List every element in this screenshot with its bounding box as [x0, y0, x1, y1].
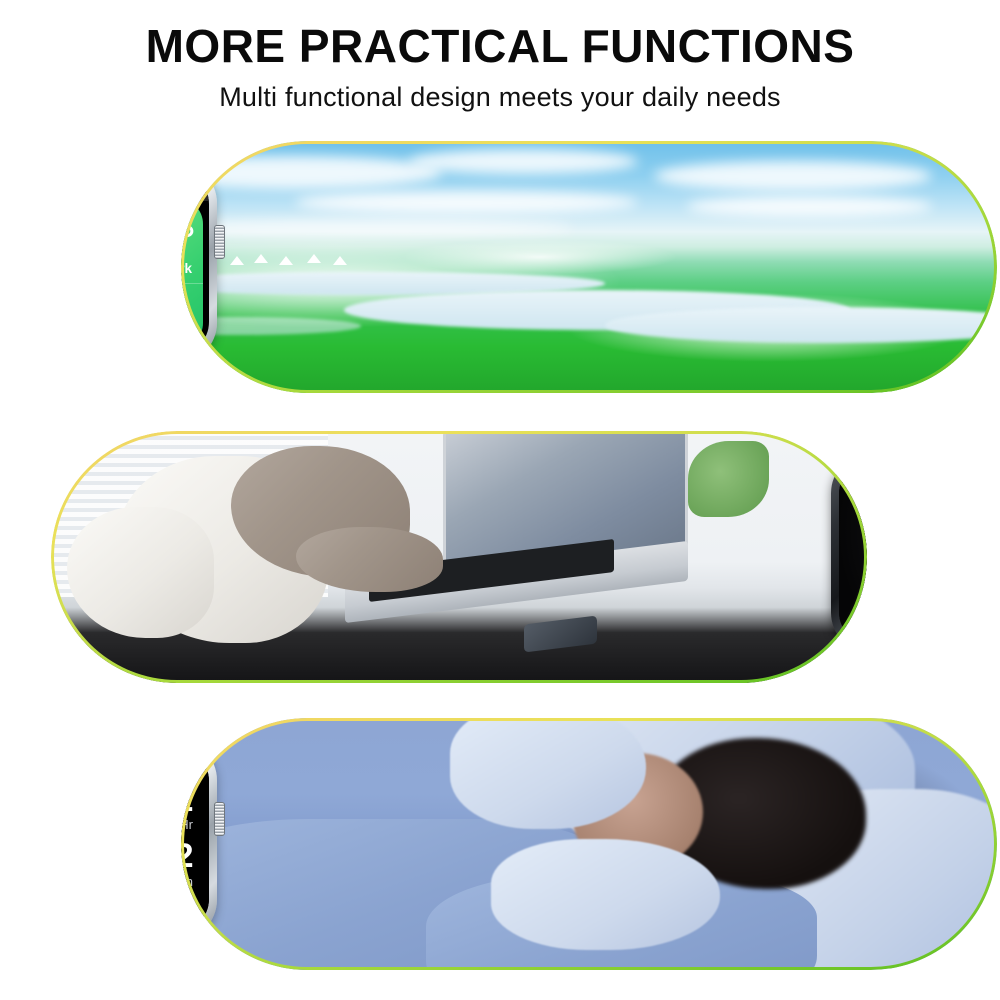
panel-sleep-scene: Sleep 10:09 z z z 02 — [181, 718, 997, 970]
watch-case: Stand Up And Move A Little For One Minut… — [831, 453, 867, 653]
weather-temperature: 20° — [181, 221, 194, 259]
sedentary-message-line2: Little For One Minute. — [858, 606, 867, 623]
watch-case: Weather 10:09 Cloudy 20° New York — [181, 163, 217, 363]
watch-screen-sleep[interactable]: Sleep 10:09 z z z 02 — [181, 748, 209, 932]
sedentary-message: Stand Up And Move A Little For One Minut… — [852, 589, 867, 623]
sunset-slot: 18:00 — [181, 293, 187, 342]
weather-status-bar: Weather 10:09 — [181, 171, 209, 201]
watch-screen-weather[interactable]: Weather 10:09 Cloudy 20° New York — [181, 171, 209, 355]
panel-weather: Weather 10:09 Cloudy 20° New York — [178, 138, 1000, 396]
sleep-hours-value: 02 — [181, 784, 193, 816]
sleep-status-bar: Sleep 10:09 — [181, 756, 209, 770]
page-subtitle: Multi functional design meets your daily… — [0, 82, 1000, 113]
weather-divider — [181, 283, 203, 284]
weather-condition: Cloudy — [181, 206, 191, 220]
sleep-hours-unit: Hr — [181, 817, 193, 832]
sedentary-reminder-face: Stand Up And Move A Little For One Minut… — [839, 461, 867, 645]
panel-sleep: Sleep 10:09 z z z 02 — [178, 715, 1000, 973]
sedentary-message-line1: Stand Up And Move A — [858, 589, 867, 606]
chevron-down-icon[interactable] — [181, 907, 209, 918]
watch-band-bottom — [860, 663, 867, 683]
weather-card: Cloudy 20° New York — [181, 198, 203, 349]
sunset-time: 18:00 — [181, 322, 187, 342]
page-title: MORE PRACTICAL FUNCTIONS — [0, 22, 1000, 70]
weather-city: New York — [181, 261, 192, 276]
sleeping-woman-image — [181, 718, 997, 970]
sleep-range-row: 23:00-05:00 — [181, 874, 209, 892]
watch-crown[interactable] — [214, 225, 225, 259]
watch-weather[interactable]: Weather 10:09 Cloudy 20° New York — [181, 141, 229, 393]
sleep-face: Sleep 10:09 z z z 02 — [181, 748, 209, 932]
watch-sedentary[interactable]: Stand Up And Move A Little For One Minut… — [819, 431, 867, 683]
office-desk-image — [51, 431, 867, 683]
watch-screen-sedentary[interactable]: Stand Up And Move A Little For One Minut… — [839, 461, 867, 645]
watch-band-bottom — [181, 950, 188, 970]
watch-crown[interactable] — [214, 802, 225, 836]
panel-sedentary-scene: Stand Up And Move A Little For One Minut… — [51, 431, 867, 683]
watch-case: Sleep 10:09 z z z 02 — [181, 740, 217, 940]
panel-weather-scene: Weather 10:09 Cloudy 20° New York — [181, 141, 997, 393]
watch-band-bottom — [181, 373, 188, 393]
weather-clock: 10:09 — [181, 179, 198, 193]
sleep-clock: 10:09 — [181, 756, 196, 770]
watch-sleep[interactable]: Sleep 10:09 z z z 02 — [181, 718, 229, 970]
grassland-landscape-image — [181, 141, 997, 393]
panel-sedentary: Stand Up And Move A Little For One Minut… — [48, 428, 870, 686]
sleep-minutes-value: 22 — [181, 840, 193, 872]
page-header: MORE PRACTICAL FUNCTIONS Multi functiona… — [0, 0, 1000, 113]
weather-sun-times: 06:00 — [181, 293, 203, 342]
